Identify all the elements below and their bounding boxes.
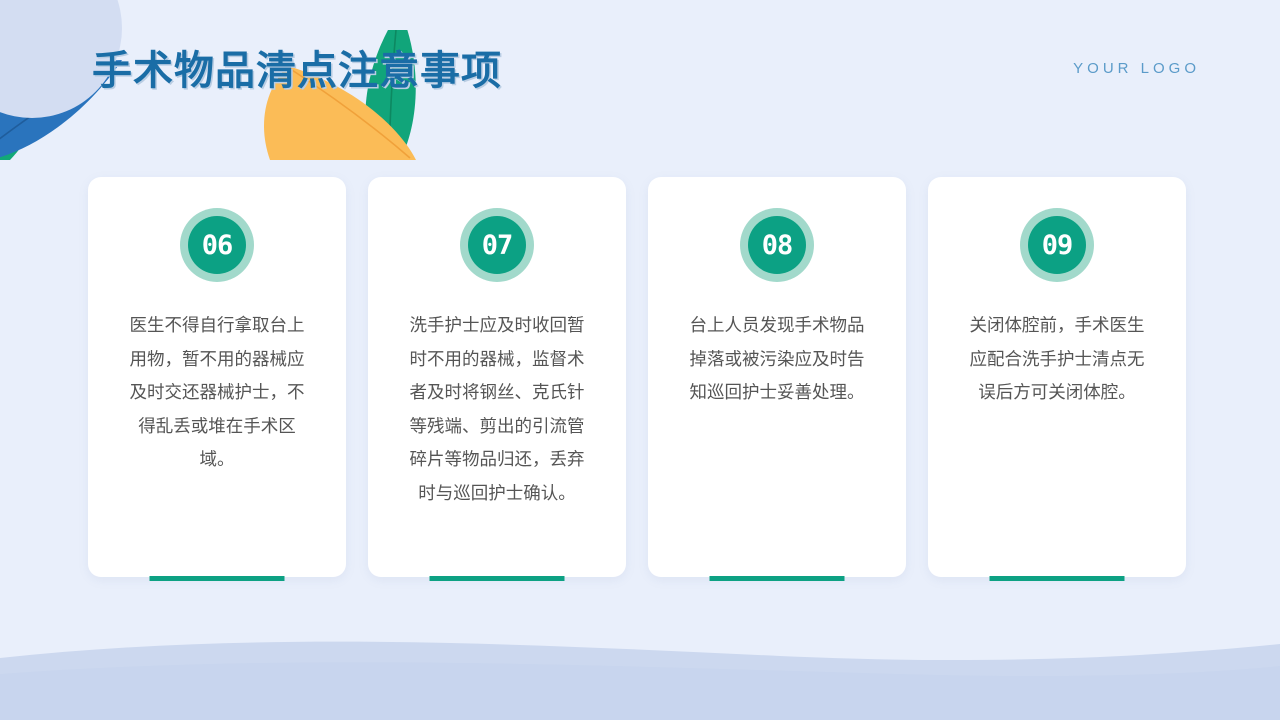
card-body-text: 关闭体腔前，手术医生应配合洗手护士清点无误后方可关闭体腔。 bbox=[963, 310, 1151, 411]
card-number-label: 08 bbox=[762, 232, 793, 259]
card-number-badge: 06 bbox=[180, 208, 254, 282]
card-list: 06 医生不得自行拿取台上用物，暂不用的器械应及时交还器械护士，不得乱丢或堆在手… bbox=[88, 177, 1192, 581]
card-number-badge-inner: 06 bbox=[188, 216, 246, 274]
logo-placeholder: YOUR LOGO bbox=[1073, 60, 1200, 77]
info-card[interactable]: 09 关闭体腔前，手术医生应配合洗手护士清点无误后方可关闭体腔。 bbox=[928, 177, 1186, 577]
card-number-badge-inner: 09 bbox=[1028, 216, 1086, 274]
card-body-text: 洗手护士应及时收回暂时不用的器械，监督术者及时将钢丝、克氏针等残端、剪出的引流管… bbox=[403, 310, 591, 512]
card-number-badge: 07 bbox=[460, 208, 534, 282]
bottom-wave-decor bbox=[0, 600, 1280, 720]
card-number-badge: 09 bbox=[1020, 208, 1094, 282]
card-body-text: 台上人员发现手术物品掉落或被污染应及时告知巡回护士妥善处理。 bbox=[683, 310, 871, 411]
card-accent-bar bbox=[710, 576, 845, 581]
card-number-badge-inner: 07 bbox=[468, 216, 526, 274]
page-header: 手术物品清点注意事项 YOUR LOGO bbox=[0, 0, 1280, 130]
card-accent-bar bbox=[430, 576, 565, 581]
card-number-label: 07 bbox=[482, 232, 513, 259]
card-number-badge: 08 bbox=[740, 208, 814, 282]
card-accent-bar bbox=[150, 576, 285, 581]
info-card[interactable]: 08 台上人员发现手术物品掉落或被污染应及时告知巡回护士妥善处理。 bbox=[648, 177, 906, 577]
card-body-text: 医生不得自行拿取台上用物，暂不用的器械应及时交还器械护士，不得乱丢或堆在手术区域… bbox=[123, 310, 311, 478]
card-number-label: 06 bbox=[202, 232, 233, 259]
card-accent-bar bbox=[990, 576, 1125, 581]
card-number-label: 09 bbox=[1042, 232, 1073, 259]
page-title: 手术物品清点注意事项 bbox=[92, 38, 502, 96]
card-number-badge-inner: 08 bbox=[748, 216, 806, 274]
info-card[interactable]: 06 医生不得自行拿取台上用物，暂不用的器械应及时交还器械护士，不得乱丢或堆在手… bbox=[88, 177, 346, 577]
info-card[interactable]: 07 洗手护士应及时收回暂时不用的器械，监督术者及时将钢丝、克氏针等残端、剪出的… bbox=[368, 177, 626, 577]
